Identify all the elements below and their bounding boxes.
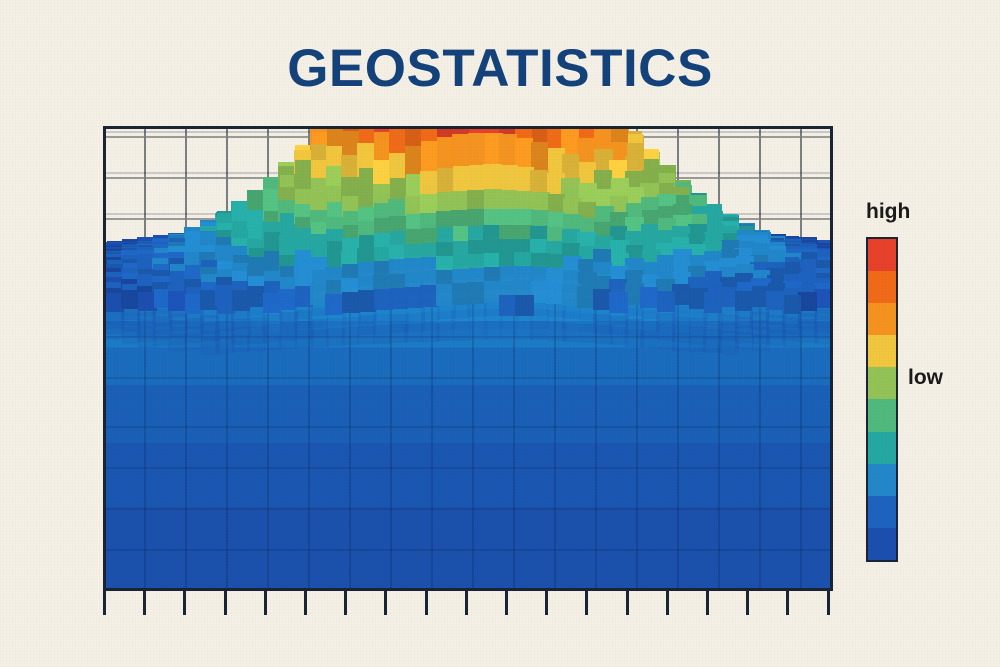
colorbar[interactable]	[866, 237, 898, 562]
terrain-cell	[342, 292, 360, 313]
x-tick	[545, 591, 548, 615]
x-axis-ticks	[103, 591, 833, 619]
x-tick	[304, 591, 307, 615]
terrain-cell	[278, 289, 295, 310]
x-tick	[264, 591, 267, 615]
terrain-cell	[467, 282, 484, 304]
x-tick	[425, 591, 428, 615]
colorbar-band-2	[868, 303, 896, 335]
colorbar-band-3	[868, 335, 896, 367]
colorbar-gradient[interactable]	[866, 237, 898, 562]
terrain-cell	[593, 289, 611, 310]
x-tick	[585, 591, 588, 615]
terrain-cell	[657, 291, 675, 312]
x-tick	[706, 591, 709, 615]
x-tick	[465, 591, 468, 615]
terrain-cell	[468, 133, 486, 169]
x-tick	[786, 591, 789, 615]
terrain-cell	[609, 292, 628, 313]
legend-low-label: low	[908, 366, 943, 390]
x-tick	[103, 591, 106, 615]
x-tick	[384, 591, 387, 615]
x-tick	[224, 591, 227, 615]
x-tick	[183, 591, 186, 615]
legend-high-label: high	[866, 200, 910, 224]
colorbar-band-8	[868, 496, 896, 528]
colorbar-band-6	[868, 432, 896, 464]
x-tick	[827, 591, 830, 615]
x-tick	[344, 591, 347, 615]
colorbar-band-7	[868, 464, 896, 496]
colorbar-band-5	[868, 399, 896, 431]
terrain-cell	[640, 287, 658, 308]
x-tick	[666, 591, 669, 615]
terrain-cell	[704, 292, 721, 312]
x-tick	[143, 591, 146, 615]
terrain-cell	[735, 291, 752, 311]
x-tick	[505, 591, 508, 615]
terrain-surface	[106, 129, 830, 588]
colorbar-band-9	[868, 528, 896, 560]
terrain-cell	[499, 295, 517, 316]
colorbar-band-1	[868, 271, 896, 303]
x-tick	[626, 591, 629, 615]
page-title: GEOSTATISTICS	[0, 38, 1000, 99]
plot-inner	[106, 129, 830, 588]
terrain-cell	[515, 295, 534, 316]
page-root: GEOSTATISTICS high low	[0, 0, 1000, 667]
colorbar-band-0	[868, 239, 896, 271]
x-tick	[746, 591, 749, 615]
colorbar-band-4	[868, 367, 896, 399]
plot-area	[103, 126, 833, 591]
terrain-cell	[325, 294, 343, 315]
terrain-cell	[784, 295, 802, 314]
terrain-cell	[766, 291, 784, 311]
